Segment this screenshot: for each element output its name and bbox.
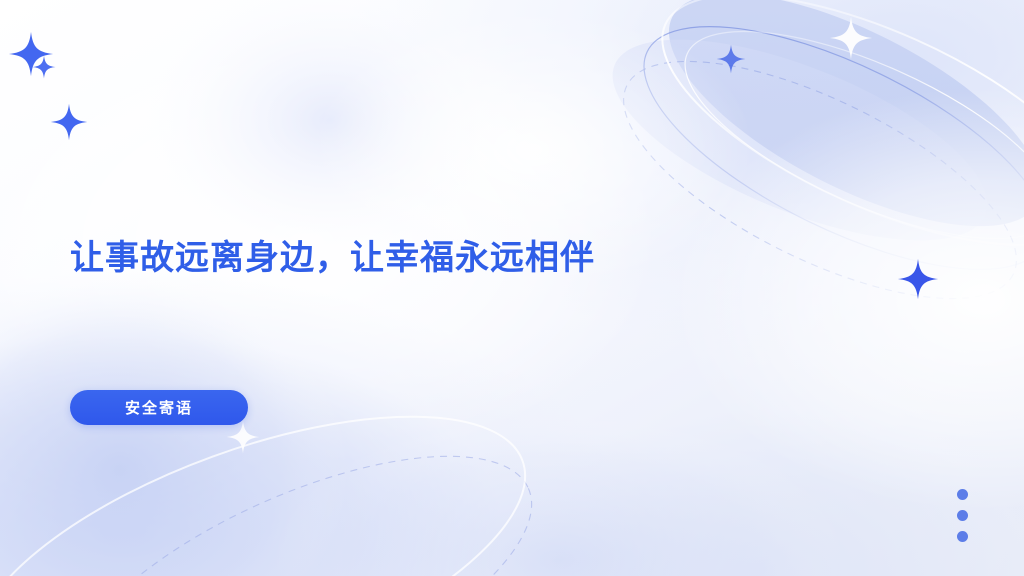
menu-dot-3[interactable] [957, 531, 968, 542]
sparkle-top-left-medium [50, 103, 88, 141]
menu-dot-1[interactable] [957, 489, 968, 500]
sparkle-orbit-left [716, 44, 746, 74]
slide-canvas: 让事故远离身边，让幸福永远相伴 安全寄语 [0, 0, 1024, 576]
blob-bottom-center [270, 410, 850, 576]
sparkle-top-left-small [32, 55, 56, 79]
page-title: 让事故远离身边，让幸福永远相伴 [70, 236, 595, 280]
sparkle-orbit-bottom [897, 258, 939, 300]
background-decoration [0, 0, 1024, 576]
filled-ellipse-secondary [588, 0, 1013, 282]
light-veil [0, 0, 1024, 576]
dashed-ellipse [592, 14, 1024, 346]
stroke-ellipse [611, 0, 1024, 318]
white-arc-outer [630, 0, 1024, 296]
dashed-ellipse-bottom [33, 402, 567, 576]
sparkle-orbit-white [829, 16, 873, 60]
safety-message-button[interactable]: 安全寄语 [70, 390, 248, 425]
sparkle-lower-left [226, 420, 260, 454]
menu-dot-2[interactable] [957, 510, 968, 521]
page-indicator-dots[interactable] [957, 489, 968, 542]
blob-top-center [130, 0, 530, 270]
orbit-cluster-top-right [588, 0, 1024, 346]
